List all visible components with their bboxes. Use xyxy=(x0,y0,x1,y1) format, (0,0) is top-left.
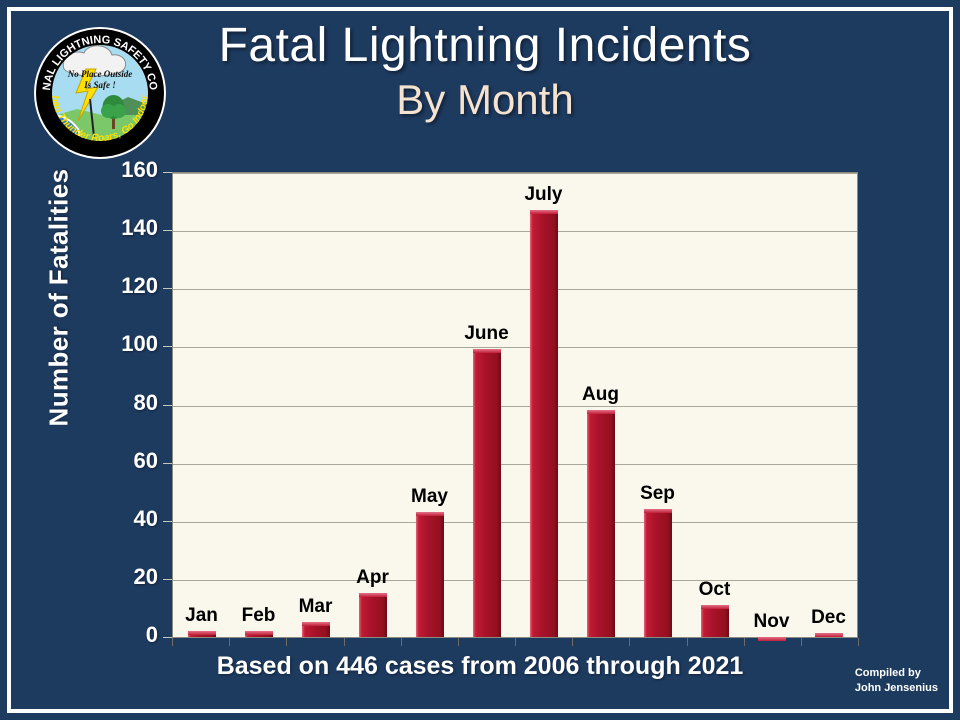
bar-slot: Apr xyxy=(344,173,401,637)
slide-root: No Place Outside Is Safe ! NATIONAL LIGH… xyxy=(0,0,960,720)
y-tick-label: 0 xyxy=(100,622,158,648)
bar-label-nov: Nov xyxy=(754,611,790,633)
y-tick-mark xyxy=(163,288,172,289)
y-tick-label: 140 xyxy=(100,215,158,241)
bar-jan[interactable] xyxy=(188,631,216,637)
y-tick-mark xyxy=(163,230,172,231)
y-tick-mark xyxy=(163,579,172,580)
bar-slot: Jan xyxy=(173,173,230,637)
y-tick-mark xyxy=(163,172,172,173)
x-tick-mark xyxy=(687,638,688,646)
bar-mar[interactable] xyxy=(302,622,330,637)
bar-slot: Feb xyxy=(230,173,287,637)
y-tick-label: 80 xyxy=(100,390,158,416)
x-tick-mark xyxy=(286,638,287,646)
nlsc-logo: No Place Outside Is Safe ! NATIONAL LIGH… xyxy=(32,25,168,161)
credit-line-1: Compiled by xyxy=(855,666,938,681)
x-tick-mark xyxy=(858,638,859,646)
bar-apr[interactable] xyxy=(359,593,387,637)
x-tick-mark xyxy=(344,638,345,646)
credit-line-2: John Jensenius xyxy=(855,681,938,696)
bar-label-july: July xyxy=(524,184,562,206)
bar-label-feb: Feb xyxy=(242,605,276,627)
bar-slot: Sep xyxy=(629,173,686,637)
bar-label-mar: Mar xyxy=(299,596,333,618)
logo-inner-line1: No Place Outside xyxy=(67,69,133,79)
bar-oct[interactable] xyxy=(701,605,729,637)
y-tick-label: 60 xyxy=(100,448,158,474)
bar-slot: Dec xyxy=(800,173,857,637)
bar-slot: July xyxy=(515,173,572,637)
chart-plot-area: JanFebMarAprMayJuneJulyAugSepOctNovDec xyxy=(172,172,858,638)
bar-label-sep: Sep xyxy=(640,483,675,505)
bar-slot: June xyxy=(458,173,515,637)
credit-block: Compiled by John Jensenius xyxy=(855,666,938,696)
bar-june[interactable] xyxy=(473,349,501,637)
bar-label-aug: Aug xyxy=(582,384,619,406)
bar-slot: Nov xyxy=(743,173,800,637)
bar-slot: May xyxy=(401,173,458,637)
bar-series: JanFebMarAprMayJuneJulyAugSepOctNovDec xyxy=(173,173,857,637)
bar-slot: Aug xyxy=(572,173,629,637)
bar-label-apr: Apr xyxy=(356,567,389,589)
title-block: Fatal Lightning Incidents By Month xyxy=(175,18,795,126)
bar-dec[interactable] xyxy=(815,633,843,637)
page-subtitle: By Month xyxy=(175,74,795,126)
x-tick-mark xyxy=(801,638,802,646)
bar-sep[interactable] xyxy=(644,509,672,637)
y-tick-mark xyxy=(163,463,172,464)
y-tick-label: 20 xyxy=(100,564,158,590)
bar-label-dec: Dec xyxy=(811,607,846,629)
y-axis-title: Number of Fatalities xyxy=(44,148,75,448)
bar-slot: Mar xyxy=(287,173,344,637)
y-tick-label: 100 xyxy=(100,331,158,357)
page-title: Fatal Lightning Incidents xyxy=(175,18,795,74)
y-tick-mark xyxy=(163,405,172,406)
bar-label-june: June xyxy=(464,323,508,345)
bar-feb[interactable] xyxy=(245,631,273,637)
logo-inner-line2: Is Safe ! xyxy=(83,80,116,90)
x-tick-mark xyxy=(401,638,402,646)
x-tick-mark xyxy=(515,638,516,646)
nlsc-seal-icon: No Place Outside Is Safe ! NATIONAL LIGH… xyxy=(32,25,168,161)
x-tick-mark xyxy=(229,638,230,646)
bar-label-jan: Jan xyxy=(185,605,218,627)
y-tick-mark xyxy=(163,637,172,638)
x-tick-mark xyxy=(458,638,459,646)
bar-may[interactable] xyxy=(416,512,444,637)
y-tick-label: 40 xyxy=(100,506,158,532)
bar-aug[interactable] xyxy=(587,410,615,637)
x-tick-mark xyxy=(172,638,173,646)
y-tick-mark xyxy=(163,346,172,347)
bar-july[interactable] xyxy=(530,210,558,637)
y-tick-label: 120 xyxy=(100,273,158,299)
x-tick-mark xyxy=(629,638,630,646)
y-tick-mark xyxy=(163,521,172,522)
bar-slot: Oct xyxy=(686,173,743,637)
bar-label-oct: Oct xyxy=(699,579,731,601)
x-tick-mark xyxy=(572,638,573,646)
bar-label-may: May xyxy=(411,486,448,508)
x-tick-mark xyxy=(744,638,745,646)
y-tick-label: 160 xyxy=(100,157,158,183)
chart-caption: Based on 446 cases from 2006 through 202… xyxy=(0,652,960,681)
